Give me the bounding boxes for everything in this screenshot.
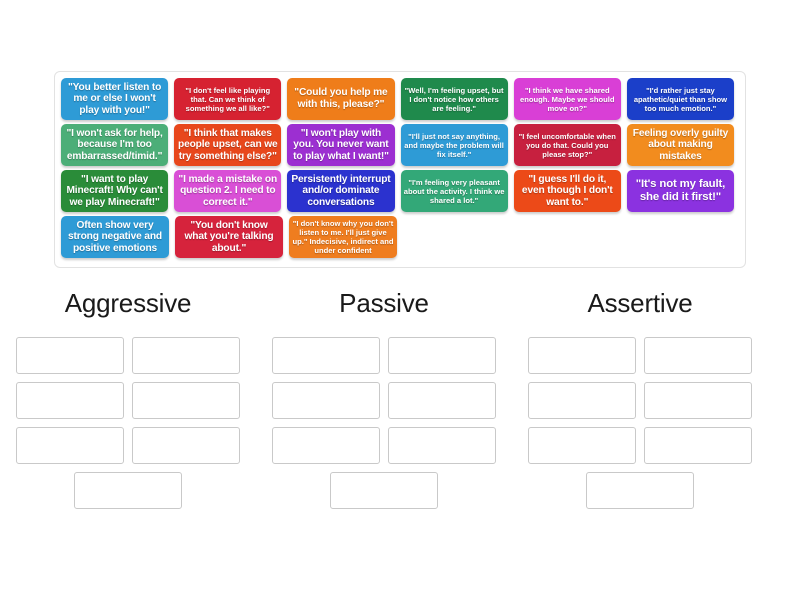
dropzone[interactable] bbox=[16, 382, 124, 419]
word-tile[interactable]: Persistently interrupt and/or dominate c… bbox=[287, 170, 394, 212]
word-tile[interactable]: "I don't feel like playing that. Can we … bbox=[174, 78, 281, 120]
word-tile[interactable]: "I made a mistake on question 2. I need … bbox=[174, 170, 281, 212]
activity-page: "You better listen to me or else I won't… bbox=[0, 0, 800, 600]
category-title: Assertive bbox=[587, 288, 692, 318]
tile-row: "I want to play Minecraft! Why can't we … bbox=[61, 170, 740, 216]
category-column: Aggressive bbox=[0, 288, 256, 509]
word-tile-label: "I made a mistake on question 2. I need … bbox=[177, 174, 278, 209]
word-tile-label: Often show very strong negative and posi… bbox=[64, 220, 166, 255]
word-tile[interactable]: "Could you help me with this, please?" bbox=[287, 78, 394, 120]
word-tile-label: "I won't ask for help, because I'm too e… bbox=[64, 128, 165, 163]
word-tile[interactable]: "You don't know what you're talking abou… bbox=[175, 216, 283, 258]
tile-row: "I won't ask for help, because I'm too e… bbox=[61, 124, 740, 170]
category-columns: AggressivePassiveAssertive bbox=[0, 288, 800, 509]
word-tile-label: "I guess I'll do it, even though I don't… bbox=[517, 174, 618, 209]
category-column: Assertive bbox=[512, 288, 768, 509]
dropzone[interactable] bbox=[528, 427, 636, 464]
word-tile[interactable]: "I won't play with you. You never want t… bbox=[287, 124, 394, 166]
word-tile[interactable]: "I don't know why you don't listen to me… bbox=[289, 216, 397, 258]
word-tile[interactable]: "I won't ask for help, because I'm too e… bbox=[61, 124, 168, 166]
dropzone[interactable] bbox=[16, 427, 124, 464]
word-tile[interactable]: "I guess I'll do it, even though I don't… bbox=[514, 170, 621, 212]
dropzone-grid bbox=[523, 337, 757, 464]
dropzone[interactable] bbox=[16, 337, 124, 374]
tile-row: "You better listen to me or else I won't… bbox=[61, 78, 740, 124]
dropzone[interactable] bbox=[388, 427, 496, 464]
dropzone[interactable] bbox=[330, 472, 438, 509]
dropzone-grid bbox=[11, 337, 245, 464]
word-tile-label: "You don't know what you're talking abou… bbox=[178, 220, 280, 255]
word-tile-label: "You better listen to me or else I won't… bbox=[64, 82, 165, 117]
word-tile-label: "I don't feel like playing that. Can we … bbox=[177, 86, 278, 113]
dropzone[interactable] bbox=[272, 382, 380, 419]
dropzone[interactable] bbox=[132, 427, 240, 464]
category-title: Passive bbox=[339, 288, 429, 318]
word-tile-label: "I think that makes people upset, can we… bbox=[177, 128, 278, 163]
dropzone[interactable] bbox=[388, 382, 496, 419]
word-tile-label: Feeling overly guilty about making mista… bbox=[630, 128, 731, 163]
word-tile-label: "I feel uncomfortable when you do that. … bbox=[517, 132, 618, 159]
word-bank-tray: "You better listen to me or else I won't… bbox=[54, 71, 746, 268]
word-tile-label: "I don't know why you don't listen to me… bbox=[292, 219, 394, 255]
tile-row: Often show very strong negative and posi… bbox=[61, 216, 740, 262]
word-tile-label: "I'll just not say anything, and maybe t… bbox=[404, 132, 505, 159]
dropzone[interactable] bbox=[132, 337, 240, 374]
dropzone[interactable] bbox=[644, 337, 752, 374]
word-tile[interactable]: "Well, I'm feeling upset, but I don't no… bbox=[401, 78, 508, 120]
word-tile[interactable]: "I'll just not say anything, and maybe t… bbox=[401, 124, 508, 166]
dropzone[interactable] bbox=[644, 382, 752, 419]
word-tile[interactable]: Often show very strong negative and posi… bbox=[61, 216, 169, 258]
category-title: Aggressive bbox=[65, 288, 192, 318]
dropzone-last-row bbox=[11, 472, 245, 509]
word-tile-label: "I want to play Minecraft! Why can't we … bbox=[64, 174, 165, 209]
dropzone[interactable] bbox=[528, 382, 636, 419]
dropzone[interactable] bbox=[132, 382, 240, 419]
word-tile-label: "I'm feeling very pleasant about the act… bbox=[404, 178, 505, 205]
word-tile[interactable]: "You better listen to me or else I won't… bbox=[61, 78, 168, 120]
word-tile[interactable]: "I feel uncomfortable when you do that. … bbox=[514, 124, 621, 166]
dropzone[interactable] bbox=[272, 337, 380, 374]
category-column: Passive bbox=[256, 288, 512, 509]
dropzone[interactable] bbox=[528, 337, 636, 374]
word-tile[interactable]: "I'm feeling very pleasant about the act… bbox=[401, 170, 508, 212]
dropzone[interactable] bbox=[272, 427, 380, 464]
dropzone[interactable] bbox=[388, 337, 496, 374]
dropzone[interactable] bbox=[586, 472, 694, 509]
word-tile-label: "Could you help me with this, please?" bbox=[290, 87, 391, 110]
word-tile-label: "I'd rather just stay apathetic/quiet th… bbox=[630, 86, 731, 113]
dropzone[interactable] bbox=[644, 427, 752, 464]
word-tile[interactable]: "I'd rather just stay apathetic/quiet th… bbox=[627, 78, 734, 120]
word-tile[interactable]: "I want to play Minecraft! Why can't we … bbox=[61, 170, 168, 212]
word-tile[interactable]: Feeling overly guilty about making mista… bbox=[627, 124, 734, 166]
dropzone-last-row bbox=[523, 472, 757, 509]
dropzone-last-row bbox=[267, 472, 501, 509]
word-tile[interactable]: "It's not my fault, she did it first!" bbox=[627, 170, 734, 212]
word-tile-label: Persistently interrupt and/or dominate c… bbox=[290, 174, 391, 209]
word-tile-label: "It's not my fault, she did it first!" bbox=[630, 178, 731, 204]
dropzone-grid bbox=[267, 337, 501, 464]
word-tile[interactable]: "I think that makes people upset, can we… bbox=[174, 124, 281, 166]
dropzone[interactable] bbox=[74, 472, 182, 509]
word-tile-label: "I won't play with you. You never want t… bbox=[290, 128, 391, 163]
word-tile[interactable]: "I think we have shared enough. Maybe we… bbox=[514, 78, 621, 120]
word-tile-label: "I think we have shared enough. Maybe we… bbox=[517, 86, 618, 113]
word-tile-label: "Well, I'm feeling upset, but I don't no… bbox=[404, 86, 505, 113]
